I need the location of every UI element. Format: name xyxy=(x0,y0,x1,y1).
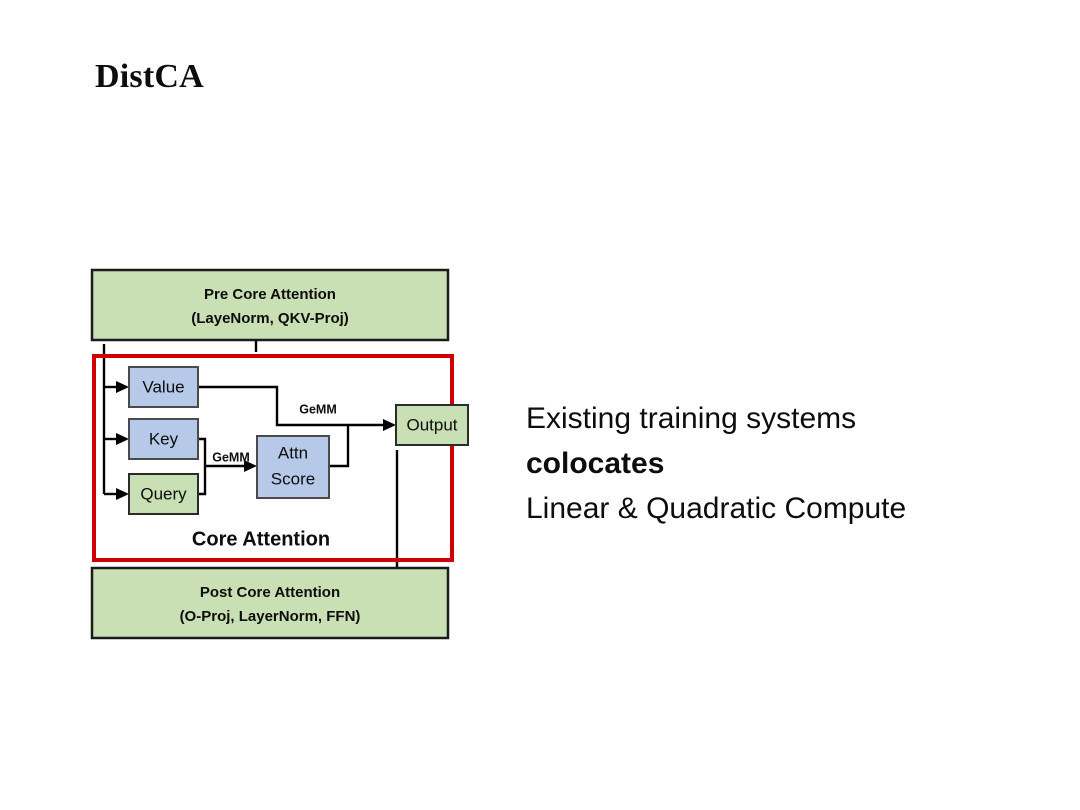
caption-line-2-emphasis: colocates xyxy=(526,441,1026,486)
core-attention-section-label: Core Attention xyxy=(192,528,330,550)
node-query-label: Query xyxy=(140,484,187,503)
node-attn-score-line1: Attn xyxy=(278,443,308,462)
node-key: Key xyxy=(129,419,198,459)
post-core-attention-line2: (O-Proj, LayerNorm, FFN) xyxy=(180,608,361,625)
page-title: DistCA xyxy=(95,58,204,96)
attention-architecture-diagram: Pre Core Attention (LayeNorm, QKV-Proj) … xyxy=(88,268,460,644)
node-attn-score: Attn Score xyxy=(257,436,329,498)
node-output-label: Output xyxy=(406,415,457,434)
caption-line-1: Existing training systems xyxy=(526,396,1026,441)
node-query: Query xyxy=(129,474,198,514)
edge-label-qk-gemm: GeMM xyxy=(212,450,250,464)
node-output: Output xyxy=(396,405,468,445)
node-value-label: Value xyxy=(142,377,184,396)
post-core-attention-line1: Post Core Attention xyxy=(200,584,340,601)
arrowhead-av-gemm xyxy=(383,419,396,431)
caption-text-block: Existing training systems colocates Line… xyxy=(526,396,1026,531)
wire-attn-to-output xyxy=(329,425,348,466)
arrowhead-value xyxy=(116,381,129,393)
pre-core-attention-line1: Pre Core Attention xyxy=(204,286,336,303)
arrowhead-query xyxy=(116,488,129,500)
wire-value-to-output xyxy=(198,387,385,425)
arrowhead-key xyxy=(116,433,129,445)
post-core-attention-block: Post Core Attention (O-Proj, LayerNorm, … xyxy=(92,568,448,638)
node-attn-score-line2: Score xyxy=(271,469,315,488)
pre-core-attention-block: Pre Core Attention (LayeNorm, QKV-Proj) xyxy=(92,270,448,340)
node-value: Value xyxy=(129,367,198,407)
node-key-label: Key xyxy=(149,429,179,448)
caption-line-3: Linear & Quadratic Compute xyxy=(526,486,1026,531)
pre-core-attention-line2: (LayeNorm, QKV-Proj) xyxy=(191,310,349,327)
edge-label-av-gemm: GeMM xyxy=(299,402,337,416)
wire-key-merge xyxy=(198,439,205,494)
